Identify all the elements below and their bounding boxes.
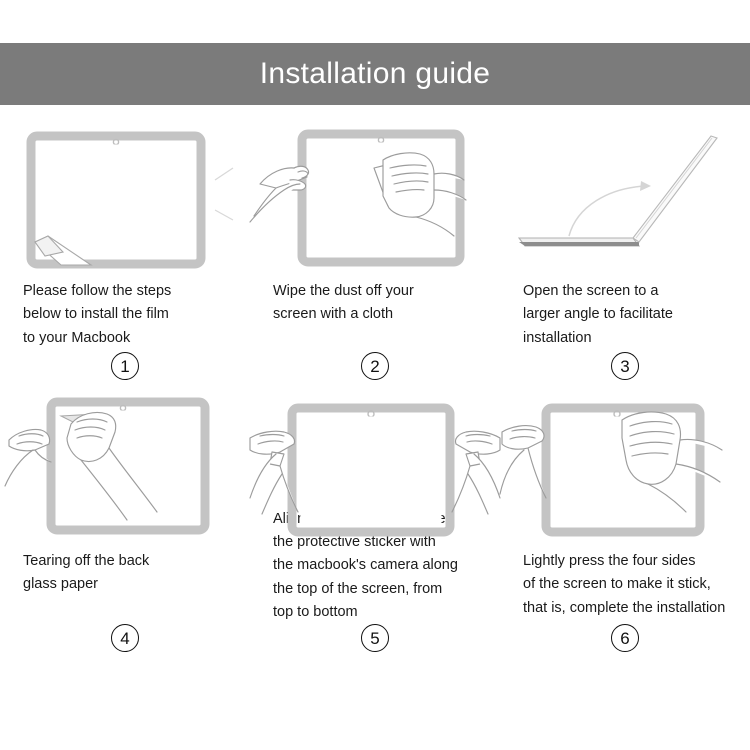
step-1-badge-wrap: 1 [14,352,236,390]
laptop-open-angle-icon [505,124,745,274]
caption-line: the top of the screen, from [273,578,486,601]
step-3-badge-wrap: 3 [514,352,736,390]
step-card-6: Lightly press the four sides of the scre… [500,390,750,680]
page-title: Installation guide [260,59,491,89]
step-3-caption: Open the screen to a larger angle to fac… [514,280,736,350]
header-band: Installation guide [0,43,750,105]
step-4-badge-wrap: 4 [14,624,236,680]
caption-line: of the screen to make it stick, [523,573,736,596]
step-number-badge: 5 [361,624,389,652]
caption-line: below to install the film [23,303,236,326]
step-number-badge: 4 [111,624,139,652]
step-6-caption: Lightly press the four sides of the scre… [514,550,736,620]
two-hands-aligning-film-icon [250,394,500,544]
step-4-caption: Tearing off the back glass paper [14,550,236,597]
step-1-caption: Please follow the steps below to install… [14,280,236,350]
step-card-1: Please follow the steps below to install… [0,120,250,390]
step-number-badge: 6 [611,624,639,652]
step-1-illustration [14,124,236,274]
caption-line: that is, complete the installation [523,597,736,620]
caption-line: Lightly press the four sides [523,550,736,573]
caption-line: Wipe the dust off your [273,280,486,303]
caption-line: top to bottom [273,601,486,624]
caption-line: larger angle to facilitate [523,303,736,326]
caption-line: installation [523,327,736,350]
caption-line: Open the screen to a [523,280,736,303]
step-2-illustration [264,124,486,274]
step-card-4: Tearing off the back glass paper 4 [0,390,250,680]
step-card-2: Wipe the dust off your screen with a clo… [250,120,500,390]
hand-wiping-screen-with-cloth-icon [250,124,500,274]
step-2-badge-wrap: 2 [264,352,486,390]
step-5-illustration [264,394,486,502]
step-number-badge: 1 [111,352,139,380]
step-6-badge-wrap: 6 [514,624,736,680]
step-5-badge-wrap: 5 [264,624,486,680]
screen-with-peeling-film-icon [15,124,235,274]
step-4-illustration [14,394,236,544]
steps-grid: Please follow the steps below to install… [0,120,750,720]
step-2-caption: Wipe the dust off your screen with a clo… [264,280,486,327]
caption-line: glass paper [23,573,236,596]
step-6-illustration [514,394,736,544]
step-3-illustration [514,124,736,274]
hand-pressing-screen-edges-icon [500,394,750,544]
caption-line: the macbook's camera along [273,554,486,577]
caption-line: Tearing off the back [23,550,236,573]
caption-line: screen with a cloth [273,303,486,326]
caption-line: Please follow the steps [23,280,236,303]
step-number-badge: 2 [361,352,389,380]
installation-guide-page: Installation guide [0,0,750,750]
caption-line: to your Macbook [23,327,236,350]
step-card-3: Open the screen to a larger angle to fac… [500,120,750,390]
hands-peeling-backing-paper-icon [5,394,245,544]
step-number-badge: 3 [611,352,639,380]
step-card-5: Align the round hole above the protectiv… [250,390,500,680]
